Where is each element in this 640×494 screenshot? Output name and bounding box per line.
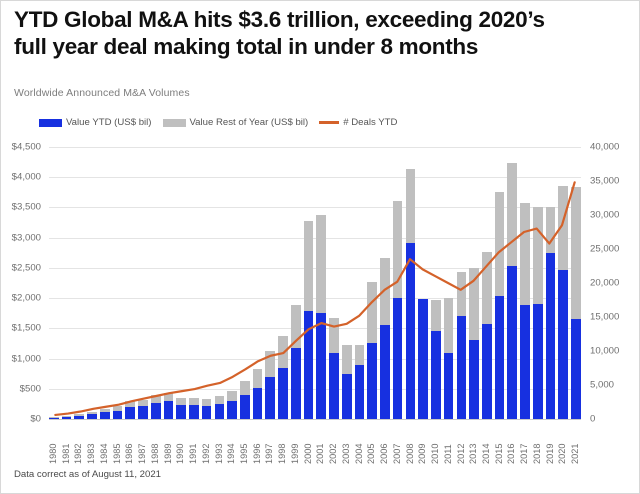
y-tick-label-left: $1,500 <box>12 323 41 334</box>
bar-group[interactable] <box>304 147 314 419</box>
bar-group[interactable] <box>125 147 135 419</box>
x-tick-label: 1997 <box>265 422 275 464</box>
bar-segment-value-ytd <box>418 299 428 419</box>
bar-group[interactable] <box>329 147 339 419</box>
y-axis-left: $0$500$1,000$1,500$2,000$2,500$3,000$3,5… <box>1 147 45 419</box>
page-title: YTD Global M&A hits $3.6 trillion, excee… <box>14 6 628 60</box>
bar-segment-value-ytd <box>215 404 225 419</box>
x-tick-label: 2013 <box>469 422 479 464</box>
y-tick-label-right: 20,000 <box>590 278 619 289</box>
bar-segment-value-ytd <box>329 353 339 419</box>
bar-segment-value-ytd <box>546 253 556 419</box>
bar-segment-value-rest <box>329 318 339 353</box>
bar-segment-value-ytd <box>164 401 174 419</box>
bar-group[interactable] <box>533 147 543 419</box>
bar-segment-value-ytd <box>291 348 301 419</box>
x-tick-label: 2005 <box>367 422 377 464</box>
bar-segment-value-ytd <box>495 296 505 419</box>
bar-segment-value-rest <box>444 298 454 352</box>
x-tick-label: 2014 <box>482 422 492 464</box>
x-tick-label: 1983 <box>87 422 97 464</box>
bar-segment-value-ytd <box>469 340 479 419</box>
bar-segment-value-ytd <box>62 417 72 419</box>
bar-group[interactable] <box>431 147 441 419</box>
legend-swatch-deals-ytd <box>319 121 339 124</box>
x-tick-label: 1993 <box>215 422 225 464</box>
bar-group[interactable] <box>176 147 186 419</box>
bar-group[interactable] <box>100 147 110 419</box>
bar-group[interactable] <box>215 147 225 419</box>
chart-page: YTD Global M&A hits $3.6 trillion, excee… <box>0 0 640 494</box>
y-tick-label-left: $4,500 <box>12 142 41 153</box>
x-tick-label: 1981 <box>62 422 72 464</box>
y-axis-right: 05,00010,00015,00020,00025,00030,00035,0… <box>587 147 639 419</box>
bar-segment-value-ytd <box>457 316 467 419</box>
legend-label-value-ytd: Value YTD (US$ bil) <box>66 117 152 128</box>
y-tick-label-right: 5,000 <box>590 380 614 391</box>
x-tick-label: 1984 <box>100 422 110 464</box>
bar-group[interactable] <box>151 147 161 419</box>
x-tick-label: 2015 <box>495 422 505 464</box>
bar-segment-value-ytd <box>393 298 403 419</box>
bar-segment-value-rest <box>520 203 530 306</box>
y-tick-label-right: 0 <box>590 414 595 425</box>
bar-segment-value-rest <box>533 207 543 304</box>
bar-segment-value-ytd <box>507 266 517 419</box>
y-tick-label-right: 30,000 <box>590 210 619 221</box>
x-tick-label: 2010 <box>431 422 441 464</box>
y-tick-label-right: 35,000 <box>590 176 619 187</box>
bar-segment-value-ytd <box>342 374 352 419</box>
gridline <box>49 419 581 420</box>
x-tick-label: 2018 <box>533 422 543 464</box>
footnote: Data correct as of August 11, 2021 <box>14 469 161 480</box>
headline-line-2: full year deal making total in under 8 m… <box>14 33 628 60</box>
x-tick-label: 2000 <box>304 422 314 464</box>
bar-segment-value-ytd <box>558 270 568 419</box>
y-tick-label-left: $0 <box>30 414 41 425</box>
bar-group[interactable] <box>240 147 250 419</box>
x-tick-label: 2001 <box>316 422 326 464</box>
legend-item-value-ytd: Value YTD (US$ bil) <box>39 117 152 128</box>
x-tick-label: 1982 <box>74 422 84 464</box>
bar-segment-value-ytd <box>367 343 377 419</box>
y-tick-label-right: 15,000 <box>590 312 619 323</box>
x-tick-label: 1985 <box>113 422 123 464</box>
bar-segment-value-ytd <box>240 395 250 419</box>
x-tick-label: 2021 <box>571 422 581 464</box>
legend-label-deals-ytd: # Deals YTD <box>343 117 397 128</box>
bar-group[interactable] <box>138 147 148 419</box>
bar-group[interactable] <box>316 147 326 419</box>
bar-segment-value-ytd <box>431 331 441 419</box>
bar-group[interactable] <box>444 147 454 419</box>
bar-segment-value-ytd <box>278 368 288 419</box>
legend-swatch-value-rest <box>163 119 186 127</box>
bar-segment-value-ytd <box>49 418 59 419</box>
x-tick-label: 2011 <box>444 422 454 464</box>
bar-group[interactable] <box>202 147 212 419</box>
bar-group[interactable] <box>495 147 505 419</box>
bar-segment-value-rest <box>215 396 225 404</box>
bar-group[interactable] <box>380 147 390 419</box>
y-tick-label-left: $2,000 <box>12 293 41 304</box>
x-tick-label: 2017 <box>520 422 530 464</box>
bar-group[interactable] <box>265 147 275 419</box>
bar-series-container <box>49 147 581 419</box>
bar-group[interactable] <box>457 147 467 419</box>
bar-segment-value-ytd <box>533 304 543 419</box>
x-tick-label: 1994 <box>227 422 237 464</box>
bar-group[interactable] <box>367 147 377 419</box>
y-tick-label-left: $3,500 <box>12 202 41 213</box>
x-tick-label: 2007 <box>393 422 403 464</box>
bar-group[interactable] <box>253 147 263 419</box>
chart-legend: Value YTD (US$ bil) Value Rest of Year (… <box>39 117 408 128</box>
bar-segment-value-ytd <box>444 353 454 419</box>
bar-segment-value-ytd <box>189 405 199 419</box>
bar-group[interactable] <box>62 147 72 419</box>
bar-segment-value-ytd <box>227 401 237 419</box>
headline-line-1: YTD Global M&A hits $3.6 trillion, excee… <box>14 7 545 32</box>
bar-segment-value-rest <box>546 207 556 252</box>
bar-segment-value-rest <box>278 336 288 367</box>
bar-group[interactable] <box>558 147 568 419</box>
legend-item-value-rest: Value Rest of Year (US$ bil) <box>163 117 309 128</box>
bar-group[interactable] <box>571 147 581 419</box>
y-tick-label-left: $500 <box>20 383 41 394</box>
x-tick-label: 2012 <box>457 422 467 464</box>
bar-segment-value-rest <box>291 305 301 347</box>
bar-group[interactable] <box>164 147 174 419</box>
bar-segment-value-rest <box>431 300 441 331</box>
bar-segment-value-rest <box>495 192 505 297</box>
bar-group[interactable] <box>227 147 237 419</box>
bar-segment-value-ytd <box>253 388 263 419</box>
bar-segment-value-ytd <box>151 403 161 419</box>
x-tick-label: 1988 <box>151 422 161 464</box>
y-tick-label-right: 10,000 <box>590 346 619 357</box>
bar-segment-value-ytd <box>520 305 530 419</box>
bar-segment-value-ytd <box>100 412 110 419</box>
bar-group[interactable] <box>520 147 530 419</box>
bar-segment-value-ytd <box>202 406 212 419</box>
legend-item-deals-ytd: # Deals YTD <box>319 117 397 128</box>
x-tick-label: 1990 <box>176 422 186 464</box>
bar-group[interactable] <box>469 147 479 419</box>
bar-segment-value-ytd <box>74 416 84 419</box>
bar-group[interactable] <box>406 147 416 419</box>
x-tick-label: 1980 <box>49 422 59 464</box>
x-tick-label: 2006 <box>380 422 390 464</box>
bar-group[interactable] <box>74 147 84 419</box>
x-tick-label: 1989 <box>164 422 174 464</box>
bar-segment-value-rest <box>265 351 275 376</box>
bar-segment-value-ytd <box>87 414 97 419</box>
x-tick-label: 2003 <box>342 422 352 464</box>
bar-segment-value-rest <box>240 381 250 395</box>
y-tick-label-left: $4,000 <box>12 172 41 183</box>
bar-segment-value-ytd <box>138 406 148 419</box>
bar-segment-value-rest <box>304 221 314 312</box>
legend-swatch-value-ytd <box>39 119 62 127</box>
y-tick-label-left: $3,000 <box>12 232 41 243</box>
bar-segment-value-ytd <box>176 405 186 419</box>
bar-segment-value-rest <box>393 201 403 298</box>
bar-segment-value-rest <box>227 391 237 401</box>
bar-segment-value-ytd <box>265 377 275 419</box>
bar-segment-value-ytd <box>113 411 123 419</box>
x-tick-label: 1987 <box>138 422 148 464</box>
bar-segment-value-rest <box>342 345 352 373</box>
x-tick-label: 1991 <box>189 422 199 464</box>
bar-segment-value-rest <box>355 345 365 364</box>
bar-segment-value-rest <box>482 252 492 324</box>
bar-segment-value-rest <box>558 186 568 269</box>
bar-segment-value-ytd <box>380 325 390 419</box>
bar-segment-value-rest <box>138 400 148 407</box>
y-tick-label-left: $2,500 <box>12 262 41 273</box>
bar-segment-value-rest <box>380 258 390 326</box>
bar-group[interactable] <box>291 147 301 419</box>
bar-segment-value-rest <box>457 272 467 317</box>
bar-group[interactable] <box>87 147 97 419</box>
bar-segment-value-ytd <box>355 365 365 419</box>
x-tick-label: 2008 <box>406 422 416 464</box>
bar-segment-value-rest <box>469 268 479 341</box>
bar-segment-value-rest <box>164 393 174 402</box>
bar-group[interactable] <box>418 147 428 419</box>
y-tick-label-left: $1,000 <box>12 353 41 364</box>
bar-group[interactable] <box>355 147 365 419</box>
x-tick-label: 1998 <box>278 422 288 464</box>
x-tick-label: 1992 <box>202 422 212 464</box>
bar-segment-value-rest <box>316 215 326 313</box>
plot-area <box>49 147 581 419</box>
x-tick-label: 2009 <box>418 422 428 464</box>
x-tick-label: 1995 <box>240 422 250 464</box>
bar-segment-value-ytd <box>125 407 135 419</box>
legend-label-value-rest: Value Rest of Year (US$ bil) <box>190 117 309 128</box>
x-tick-label: 1986 <box>125 422 135 464</box>
bar-group[interactable] <box>507 147 517 419</box>
x-tick-label: 2004 <box>355 422 365 464</box>
bar-segment-value-ytd <box>482 324 492 419</box>
x-tick-label: 2002 <box>329 422 339 464</box>
x-tick-label: 2016 <box>507 422 517 464</box>
bar-segment-value-rest <box>571 187 581 319</box>
x-tick-label: 2020 <box>558 422 568 464</box>
x-tick-label: 2019 <box>546 422 556 464</box>
y-tick-label-right: 25,000 <box>590 244 619 255</box>
bar-segment-value-rest <box>367 282 377 344</box>
bar-group[interactable] <box>189 147 199 419</box>
bar-segment-value-rest <box>151 395 161 403</box>
y-tick-label-right: 40,000 <box>590 142 619 153</box>
bar-group[interactable] <box>49 147 59 419</box>
bar-group[interactable] <box>278 147 288 419</box>
bar-segment-value-ytd <box>406 243 416 419</box>
bar-group[interactable] <box>113 147 123 419</box>
bar-segment-value-rest <box>406 169 416 243</box>
bar-segment-value-ytd <box>304 311 314 419</box>
bar-segment-value-rest <box>202 399 212 406</box>
bar-group[interactable] <box>546 147 556 419</box>
bar-segment-value-ytd <box>316 313 326 419</box>
bar-segment-value-rest <box>253 369 263 387</box>
bar-segment-value-rest <box>176 398 186 405</box>
bar-segment-value-ytd <box>571 319 581 419</box>
bar-group[interactable] <box>393 147 403 419</box>
bar-group[interactable] <box>342 147 352 419</box>
x-tick-label: 1999 <box>291 422 301 464</box>
bar-segment-value-rest <box>189 398 199 405</box>
chart-subtitle: Worldwide Announced M&A Volumes <box>14 87 190 99</box>
x-tick-label: 1996 <box>253 422 263 464</box>
bar-group[interactable] <box>482 147 492 419</box>
x-axis-year-labels: 1980198119821983198419851986198719881989… <box>49 422 581 464</box>
bar-segment-value-rest <box>507 163 517 266</box>
